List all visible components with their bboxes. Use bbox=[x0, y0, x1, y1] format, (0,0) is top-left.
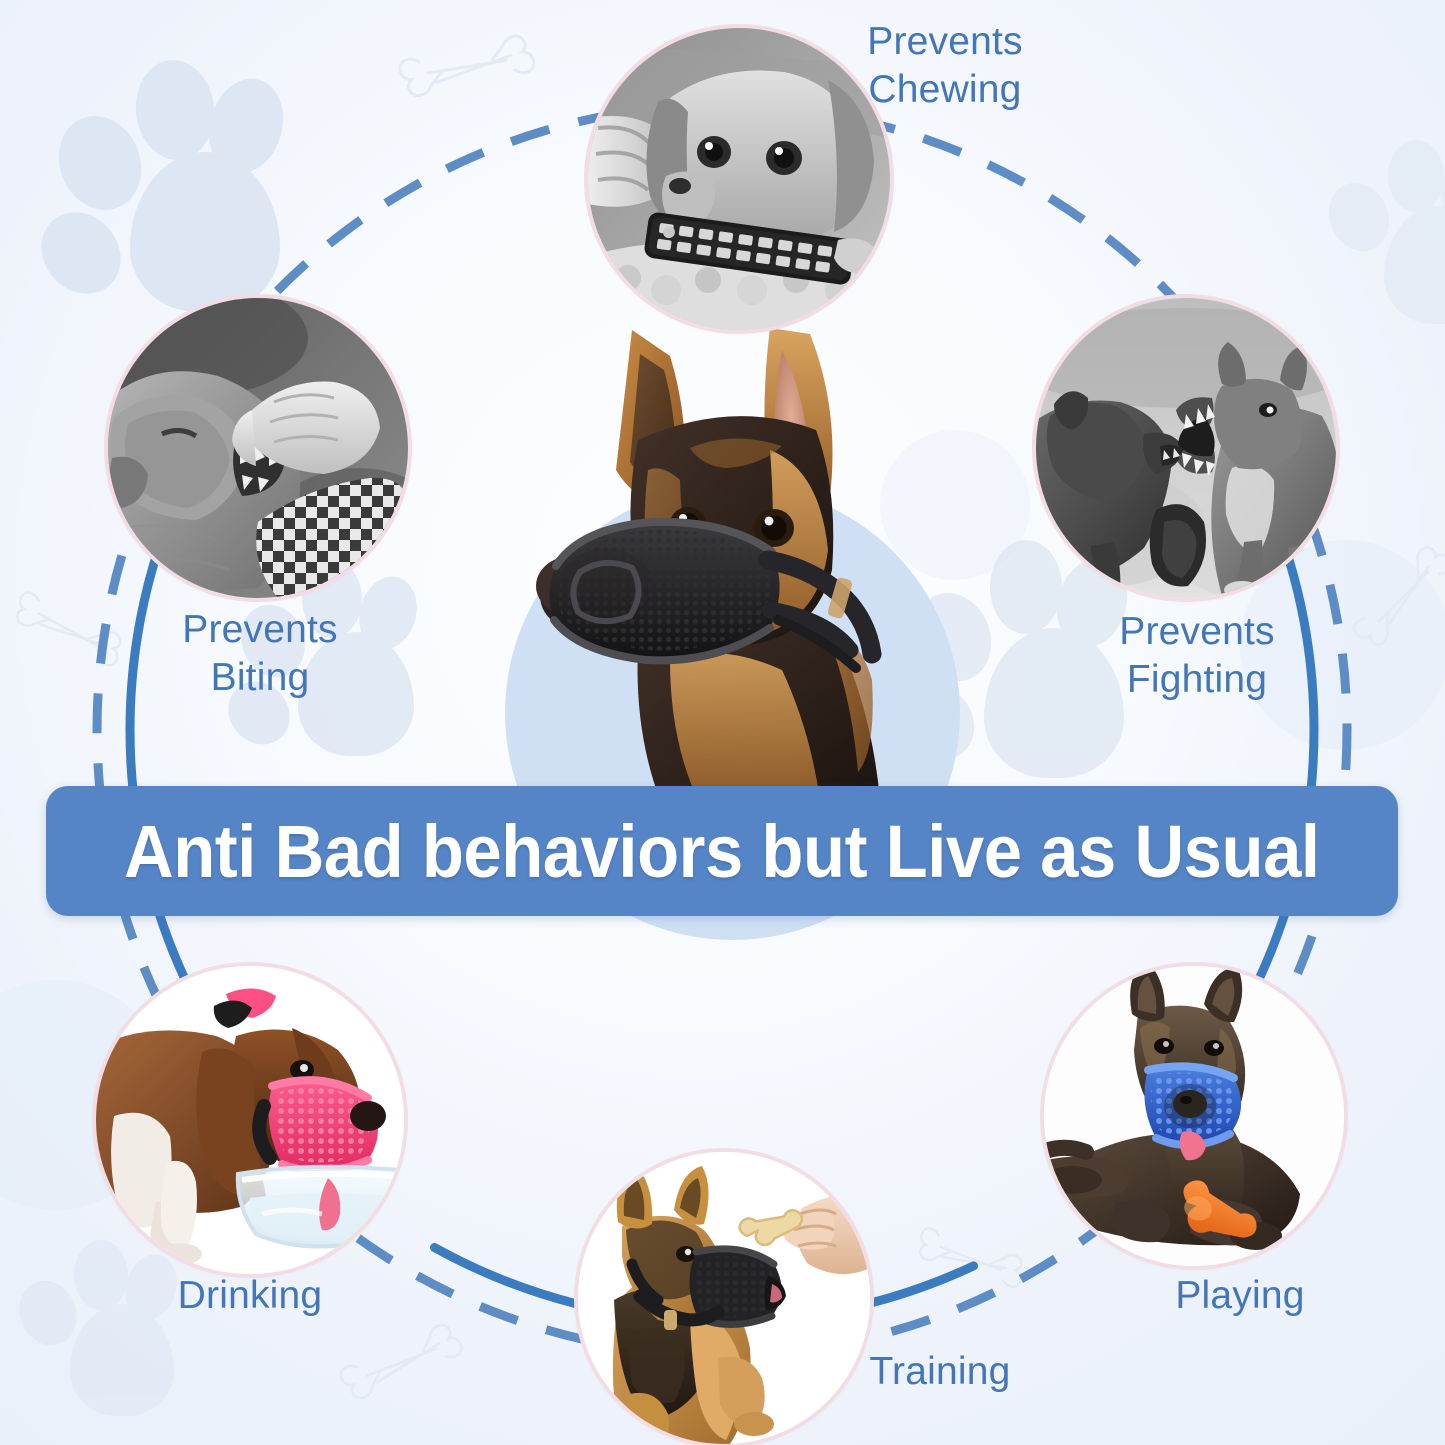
headline-banner-text: Anti Bad behaviors but Live as Usual bbox=[124, 809, 1320, 894]
headline-banner: Anti Bad behaviors but Live as Usual bbox=[46, 786, 1398, 916]
label-prevents-fighting: Prevents Fighting bbox=[1042, 608, 1352, 704]
photo-training[interactable] bbox=[578, 1152, 870, 1444]
photo-prevents-fighting[interactable] bbox=[1036, 298, 1336, 598]
photo-drinking[interactable] bbox=[96, 966, 404, 1274]
label-training: Training bbox=[800, 1348, 1080, 1396]
center-dog-photo bbox=[520, 320, 960, 800]
label-prevents-chewing: Prevents Chewing bbox=[790, 18, 1100, 114]
photo-playing[interactable] bbox=[1044, 966, 1344, 1266]
infographic-canvas: Prevents Chewing Prevents Biting Prevent… bbox=[0, 0, 1445, 1445]
label-drinking: Drinking bbox=[110, 1272, 390, 1320]
label-prevents-biting: Prevents Biting bbox=[110, 606, 410, 702]
photo-prevents-biting[interactable] bbox=[108, 298, 408, 598]
label-playing: Playing bbox=[1100, 1272, 1380, 1320]
